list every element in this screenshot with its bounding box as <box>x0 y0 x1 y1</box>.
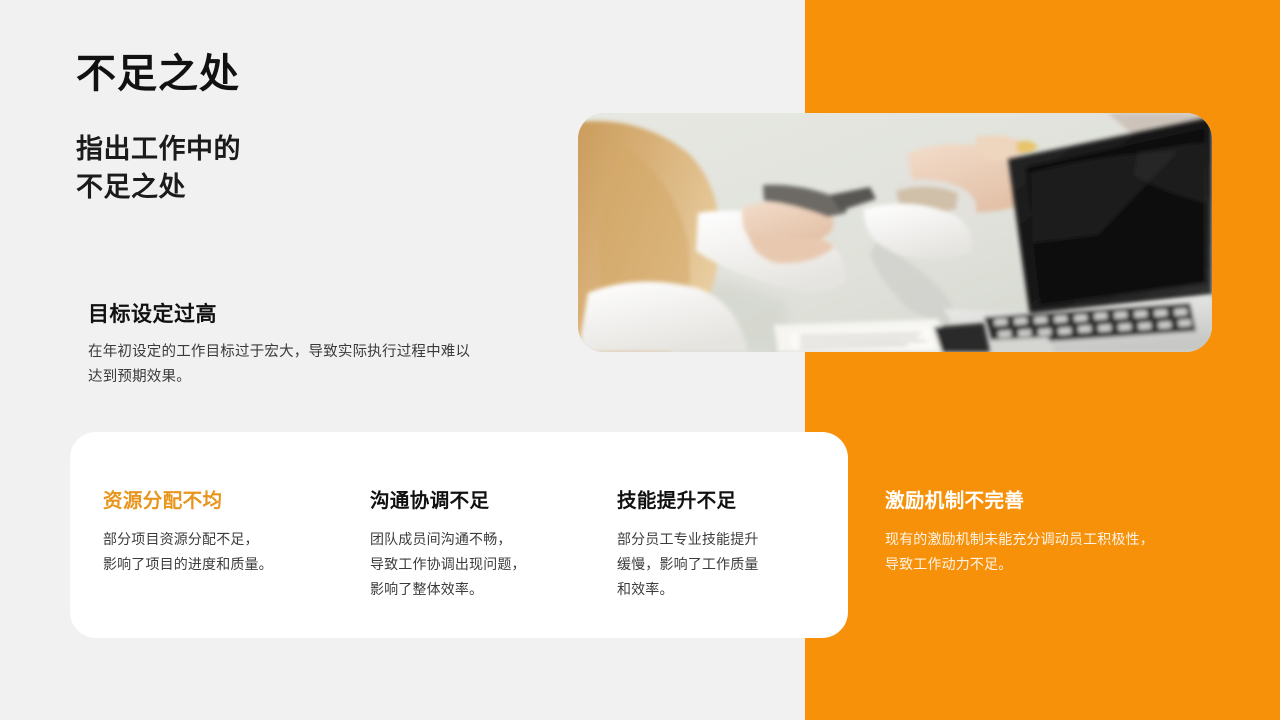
slide-root: 不足之处 指出工作中的 不足之处 目标设定过高 在年初设定的工作目标过于宏大，导… <box>0 0 1280 720</box>
subtitle-line-1: 指出工作中的 <box>76 130 376 168</box>
orange-accent-panel <box>805 0 1280 720</box>
lead-text-block: 目标设定过高 在年初设定的工作目标过于宏大，导致实际执行过程中难以 达到预期效果… <box>88 298 518 391</box>
page-title: 不足之处 <box>76 52 240 96</box>
card-body-2-line-3: 影响了整体效率。 <box>370 577 595 602</box>
card-body-1-line-1: 部分项目资源分配不足， <box>103 527 328 552</box>
lead-heading: 目标设定过高 <box>88 298 518 328</box>
card-body-3-line-3: 和效率。 <box>617 577 827 602</box>
page-subtitle: 指出工作中的 不足之处 <box>76 130 376 207</box>
lead-body: 在年初设定的工作目标过于宏大，导致实际执行过程中难以 达到预期效果。 <box>88 340 518 391</box>
panel-body-4-line-2: 导致工作动力不足。 <box>885 552 1215 577</box>
card-body-2: 团队成员间沟通不畅， 导致工作协调出现问题， 影响了整体效率。 <box>370 527 595 602</box>
panel-heading-4: 激励机制不完善 <box>885 484 1215 513</box>
card-heading-3: 技能提升不足 <box>617 484 827 513</box>
panel-body-4-line-1: 现有的激励机制未能充分调动员工积极性， <box>885 527 1215 552</box>
card-body-2-line-2: 导致工作协调出现问题， <box>370 552 595 577</box>
card-body-1: 部分项目资源分配不足， 影响了项目的进度和质量。 <box>103 527 328 577</box>
card-column-3: 技能提升不足 部分员工专业技能提升 缓慢，影响了工作质量 和效率。 <box>617 484 827 602</box>
card-body-3-line-1: 部分员工专业技能提升 <box>617 527 827 552</box>
card-body-3: 部分员工专业技能提升 缓慢，影响了工作质量 和效率。 <box>617 527 827 602</box>
photo-laptop-writing <box>578 113 1212 352</box>
card-body-2-line-1: 团队成员间沟通不畅， <box>370 527 595 552</box>
lead-body-line-2: 达到预期效果。 <box>88 365 518 390</box>
card-heading-2: 沟通协调不足 <box>370 484 595 513</box>
card-body-1-line-2: 影响了项目的进度和质量。 <box>103 552 328 577</box>
panel-body-4: 现有的激励机制未能充分调动员工积极性， 导致工作动力不足。 <box>885 527 1215 577</box>
card-heading-1: 资源分配不均 <box>103 484 328 513</box>
subtitle-line-2: 不足之处 <box>76 168 376 206</box>
card-body-3-line-2: 缓慢，影响了工作质量 <box>617 552 827 577</box>
card-column-2: 沟通协调不足 团队成员间沟通不畅， 导致工作协调出现问题， 影响了整体效率。 <box>370 484 595 602</box>
lead-body-line-1: 在年初设定的工作目标过于宏大，导致实际执行过程中难以 <box>88 340 518 365</box>
weakness-card: 资源分配不均 部分项目资源分配不足， 影响了项目的进度和质量。 沟通协调不足 团… <box>70 432 848 638</box>
card-column-1: 资源分配不均 部分项目资源分配不足， 影响了项目的进度和质量。 <box>103 484 328 577</box>
panel-column-4: 激励机制不完善 现有的激励机制未能充分调动员工积极性， 导致工作动力不足。 <box>885 484 1215 577</box>
photo-illustration <box>578 113 1212 352</box>
